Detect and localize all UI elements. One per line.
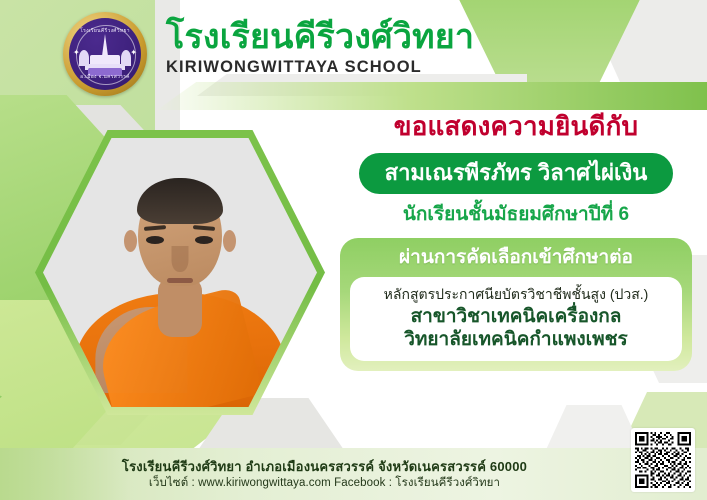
portrait-hair [137,178,223,224]
seal-purple-disc: โรงเรียนคีรีวงศ์วิทยา ✦ ✦ อ.เมือง จ.นครส… [69,18,141,90]
qr-code[interactable] [631,428,695,492]
admission-card: ผ่านการคัดเลือกเข้าศึกษาต่อ หลักสูตรประก… [340,238,692,371]
student-photo-frame [35,130,325,415]
portrait-neck [158,277,202,337]
seal-left-wing [79,50,89,66]
seal-stupa-spire [102,34,108,56]
program-detail-card: หลักสูตรประกาศนียบัตรวิชาชีพชั้นสูง (ปวส… [350,277,682,361]
congratulation-headline: ขอแสดงความยินดีกับ [340,112,692,141]
school-title-block: โรงเรียนคีรีวงศ์วิทยา KIRIWONGWITTAYA SC… [166,20,474,77]
portrait-left-eye [146,236,164,244]
program-major: สาขาวิชาเทคนิคเครื่องกล [360,305,672,328]
admission-title: ผ่านการคัดเลือกเข้าศึกษาต่อ [350,246,682,270]
school-name-english: KIRIWONGWITTAYA SCHOOL [166,58,474,77]
portrait-left-ear [124,230,137,252]
congratulation-content: ขอแสดงความยินดีกับ สามเณรพีรภัทร วิลาศไผ… [340,112,692,371]
program-institution: วิทยาลัยเทคนิคกำแพงเพชร [360,328,672,351]
footer-web-social-line: เว็บไซต์ : www.kiriwongwittaya.com Faceb… [0,476,649,492]
congratulations-poster: โรงเรียนคีรีวงศ์วิทยา ✦ ✦ อ.เมือง จ.นครส… [0,0,707,500]
portrait-right-eye [195,236,213,244]
school-seal-logo: โรงเรียนคีรีวงศ์วิทยา ✦ ✦ อ.เมือง จ.นครส… [57,10,153,98]
qr-code-graphic [635,432,691,488]
school-name-thai: โรงเรียนคีรีวงศ์วิทยา [166,20,474,55]
portrait-nose [172,246,189,272]
seal-arc-bottom-text: อ.เมือง จ.นครสวรรค์ [69,73,141,81]
footer-address-line: โรงเรียนคีรีวงศ์วิทยา อำเภอเมืองนครสวรรค… [0,458,649,476]
student-name-badge: สามเณรพีรภัทร วิลาศไผ่เงิน [359,153,674,194]
seal-left-star-icon: ✦ [73,49,80,57]
footer-contact-info: โรงเรียนคีรีวงศ์วิทยา อำเภอเมืองนครสวรรค… [0,458,707,492]
portrait-mouth [167,278,193,283]
program-certificate-level: หลักสูตรประกาศนียบัตรวิชาชีพชั้นสูง (ปวส… [360,285,672,303]
student-grade-level: นักเรียนชั้นมัธยมศึกษาปีที่ 6 [340,204,692,227]
poster-header: โรงเรียนคีรีวงศ์วิทยา ✦ ✦ อ.เมือง จ.นครส… [0,0,707,100]
seal-right-star-icon: ✦ [130,49,137,57]
portrait-right-ear [223,230,236,252]
